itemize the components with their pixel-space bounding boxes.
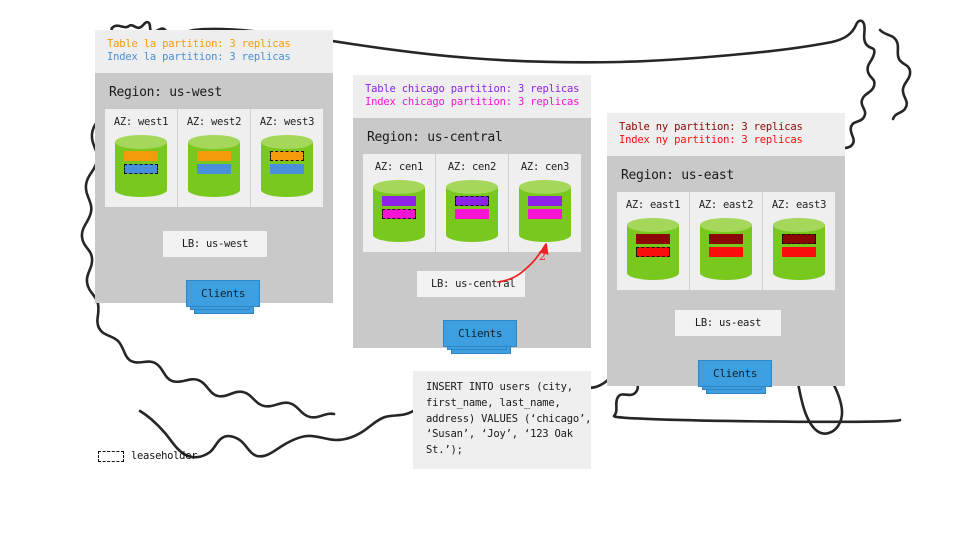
replica-table-ny[interactable] (709, 234, 743, 244)
replica-layers-cen2 (446, 196, 498, 219)
az-cell-east1[interactable]: AZ: east1 (617, 192, 690, 290)
region-panel-us-west: Table la partition: 3 replicas Index la … (95, 30, 333, 303)
replica-layers-east2 (700, 234, 752, 257)
az-label-cen1: AZ: cen1 (367, 161, 431, 173)
clients-button-us-east[interactable]: Clients (698, 360, 772, 387)
region-title-us-central: Region: us-central (363, 127, 581, 154)
db-cylinder-west3[interactable] (261, 135, 313, 197)
replica-table-la[interactable] (197, 151, 231, 161)
replica-table-ny-leaseholder[interactable] (782, 234, 816, 244)
region-panel-us-central: Table chicago partition: 3 replicas Inde… (353, 75, 591, 348)
cylinder-top (373, 180, 425, 194)
sql-insert-callout: INSERT INTO users (city, first_name, las… (413, 371, 591, 469)
clients-us-central[interactable]: Clients (443, 320, 517, 347)
legend-us-east: Table ny partition: 3 replicas Index ny … (607, 113, 845, 156)
region-body-us-west: Region: us-west AZ: west1 (95, 73, 333, 303)
replica-layers-west3 (261, 151, 313, 174)
db-cylinder-east2[interactable] (700, 218, 752, 280)
az-cell-west1[interactable]: AZ: west1 (105, 109, 178, 207)
replica-index-la[interactable] (270, 164, 304, 174)
db-cylinder-west1[interactable] (115, 135, 167, 197)
cylinder-top (115, 135, 167, 149)
cylinder-top (773, 218, 825, 232)
cylinder-top (188, 135, 240, 149)
az-cell-west3[interactable]: AZ: west3 (251, 109, 323, 207)
replica-index-la[interactable] (197, 164, 231, 174)
cylinder-top (700, 218, 752, 232)
legend-line-index-la: Index la partition: 3 replicas (107, 51, 323, 64)
cylinder-top (627, 218, 679, 232)
region-title-us-east: Region: us-east (617, 165, 835, 192)
cylinder-top (519, 180, 571, 194)
replica-table-chicago[interactable] (382, 196, 416, 206)
legend-line-table-chicago: Table chicago partition: 3 replicas (365, 83, 581, 96)
replica-index-ny[interactable] (782, 247, 816, 257)
load-balancer-us-east[interactable]: LB: us-east (675, 310, 781, 336)
legend-line-index-chicago: Index chicago partition: 3 replicas (365, 96, 581, 109)
replica-layers-west1 (115, 151, 167, 174)
leaseholder-key-label: leaseholder (131, 450, 197, 462)
leaseholder-key: leaseholder (98, 450, 197, 462)
replica-table-la-leaseholder[interactable] (270, 151, 304, 161)
replica-index-chicago[interactable] (528, 209, 562, 219)
az-label-east1: AZ: east1 (621, 199, 685, 211)
az-label-east3: AZ: east3 (767, 199, 831, 211)
replica-layers-cen3 (519, 196, 571, 219)
replica-layers-east3 (773, 234, 825, 257)
cylinder-top (261, 135, 313, 149)
replica-layers-east1 (627, 234, 679, 257)
az-cell-cen1[interactable]: AZ: cen1 (363, 154, 436, 252)
az-strip-us-east: AZ: east1 AZ: east2 (617, 192, 835, 290)
az-cell-cen2[interactable]: AZ: cen2 (436, 154, 509, 252)
clients-button-us-central[interactable]: Clients (443, 320, 517, 347)
az-label-west1: AZ: west1 (109, 116, 173, 128)
legend-line-table-la: Table la partition: 3 replicas (107, 38, 323, 51)
az-strip-us-west: AZ: west1 AZ: west2 (105, 109, 323, 207)
az-label-cen3: AZ: cen3 (513, 161, 577, 173)
db-cylinder-west2[interactable] (188, 135, 240, 197)
az-label-west2: AZ: west2 (182, 116, 246, 128)
replica-index-chicago[interactable] (455, 209, 489, 219)
db-cylinder-east1[interactable] (627, 218, 679, 280)
region-body-us-east: Region: us-east AZ: east1 (607, 156, 845, 386)
az-label-east2: AZ: east2 (694, 199, 758, 211)
replica-layers-west2 (188, 151, 240, 174)
cylinder-top (446, 180, 498, 194)
az-cell-cen3[interactable]: AZ: cen3 (509, 154, 581, 252)
leaseholder-swatch-icon (98, 451, 124, 462)
load-balancer-us-west[interactable]: LB: us-west (163, 231, 267, 257)
replica-table-ny[interactable] (636, 234, 670, 244)
replica-layers-cen1 (373, 196, 425, 219)
az-label-west3: AZ: west3 (255, 116, 319, 128)
replica-index-ny-leaseholder[interactable] (636, 247, 670, 257)
region-title-us-west: Region: us-west (105, 82, 323, 109)
clients-button-us-west[interactable]: Clients (186, 280, 260, 307)
replica-index-ny[interactable] (709, 247, 743, 257)
legend-us-central: Table chicago partition: 3 replicas Inde… (353, 75, 591, 118)
legend-us-west: Table la partition: 3 replicas Index la … (95, 30, 333, 73)
db-cylinder-cen1[interactable] (373, 180, 425, 242)
clients-us-west[interactable]: Clients (186, 280, 260, 307)
az-label-cen2: AZ: cen2 (440, 161, 504, 173)
replica-table-chicago-leaseholder[interactable] (455, 196, 489, 206)
db-cylinder-east3[interactable] (773, 218, 825, 280)
az-cell-east2[interactable]: AZ: east2 (690, 192, 763, 290)
az-cell-west2[interactable]: AZ: west2 (178, 109, 251, 207)
replica-index-chicago-leaseholder[interactable] (382, 209, 416, 219)
clients-us-east[interactable]: Clients (698, 360, 772, 387)
replica-index-la-leaseholder[interactable] (124, 164, 158, 174)
replica-table-la[interactable] (124, 151, 158, 161)
load-balancer-us-central[interactable]: LB: us-central (417, 271, 525, 297)
region-panel-us-east: Table ny partition: 3 replicas Index ny … (607, 113, 845, 386)
db-cylinder-cen2[interactable] (446, 180, 498, 242)
region-body-us-central: Region: us-central AZ: cen1 (353, 118, 591, 348)
diagram-canvas: Table la partition: 3 replicas Index la … (0, 0, 960, 540)
legend-line-index-ny: Index ny partition: 3 replicas (619, 134, 835, 147)
replica-table-chicago[interactable] (528, 196, 562, 206)
legend-line-table-ny: Table ny partition: 3 replicas (619, 121, 835, 134)
az-strip-us-central: AZ: cen1 AZ: cen2 (363, 154, 581, 252)
db-cylinder-cen3[interactable] (519, 180, 571, 242)
az-cell-east3[interactable]: AZ: east3 (763, 192, 835, 290)
annotation-label-2: 2 (539, 250, 546, 263)
